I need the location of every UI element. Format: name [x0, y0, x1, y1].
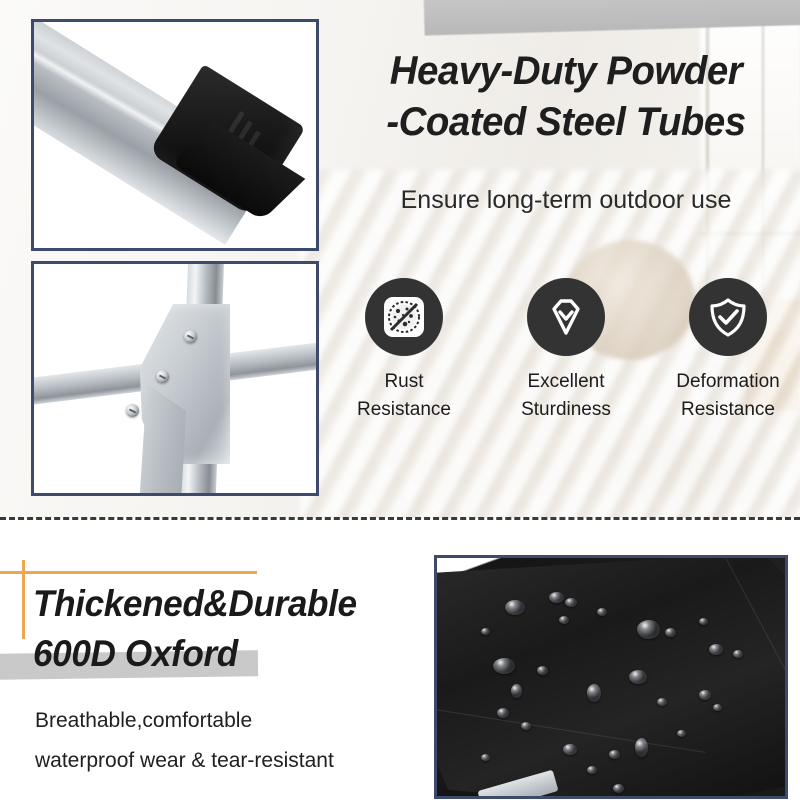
water-droplet	[609, 750, 620, 759]
water-droplet	[481, 628, 490, 635]
headline-line-1: Heavy-Duty Powder	[345, 46, 787, 97]
water-droplet	[699, 618, 708, 625]
screw-icon	[184, 330, 197, 343]
water-droplet	[497, 708, 509, 718]
water-droplet	[733, 650, 743, 658]
waterproof-oxford-fabric-photo	[434, 555, 788, 799]
top-section: Heavy-Duty Powder -Coated Steel Tubes En…	[0, 0, 800, 518]
rust-resistance-badge	[365, 278, 443, 356]
feature-rust-resistance: Rust Resistance	[336, 278, 472, 423]
screw-icon	[156, 370, 169, 383]
feature-label: Deformation Resistance	[676, 368, 780, 423]
water-droplet	[657, 698, 667, 706]
orange-horizontal-rule	[0, 571, 257, 574]
headline-line-2: -Coated Steel Tubes	[345, 97, 787, 148]
section-title: Thickened&Durable 600D Oxford	[33, 579, 357, 678]
water-droplet	[493, 658, 515, 674]
water-droplet	[511, 684, 522, 698]
shield-check-icon	[703, 292, 753, 342]
water-droplet	[613, 784, 624, 793]
water-droplet	[563, 744, 577, 755]
product-infographic: Heavy-Duty Powder -Coated Steel Tubes En…	[0, 0, 800, 800]
bottom-section: Thickened&Durable 600D Oxford Breathable…	[0, 521, 800, 800]
oxford-cloth	[434, 555, 788, 799]
water-droplet	[665, 628, 676, 637]
feature-label: Excellent Sturdiness	[521, 368, 611, 423]
water-droplet	[597, 608, 607, 616]
subheadline: Ensure long-term outdoor use	[336, 186, 796, 215]
body-text-line-2: waterproof wear & tear-resistant	[35, 749, 334, 773]
water-droplet	[709, 644, 723, 655]
water-droplet	[587, 684, 601, 702]
steel-tube-foot-cap-photo	[31, 19, 319, 251]
water-droplet	[565, 598, 577, 607]
water-droplet	[677, 730, 686, 737]
orange-vertical-rule	[22, 560, 25, 639]
sturdiness-badge	[527, 278, 605, 356]
section-title-line-1: Thickened&Durable	[33, 579, 357, 629]
water-droplet	[629, 670, 647, 684]
water-droplet	[587, 766, 597, 774]
water-droplet	[481, 754, 490, 761]
diamond-chevron-icon	[541, 292, 591, 342]
feature-label: Rust Resistance	[357, 368, 451, 423]
water-droplet	[637, 620, 660, 639]
bracket-joint-photo	[31, 261, 319, 496]
water-droplet	[537, 666, 548, 675]
water-droplet	[699, 690, 711, 700]
page-title: Heavy-Duty Powder -Coated Steel Tubes	[345, 46, 787, 148]
feature-list: Rust Resistance Excellent Sturdiness	[336, 278, 796, 423]
screw-icon	[126, 404, 139, 417]
feature-deformation-resistance: Deformation Resistance	[660, 278, 796, 423]
deformation-resistance-badge	[689, 278, 767, 356]
water-droplet	[549, 592, 564, 603]
section-title-line-2: 600D Oxford	[33, 629, 357, 679]
rust-resistance-icon	[379, 292, 429, 342]
water-droplet	[559, 616, 569, 624]
water-droplet	[521, 722, 531, 730]
water-droplet	[635, 738, 648, 757]
section-divider	[0, 517, 800, 520]
body-text-line-1: Breathable,comfortable	[35, 709, 252, 733]
water-droplet	[505, 600, 525, 615]
feature-excellent-sturdiness: Excellent Sturdiness	[498, 278, 634, 423]
water-droplet	[713, 704, 722, 711]
